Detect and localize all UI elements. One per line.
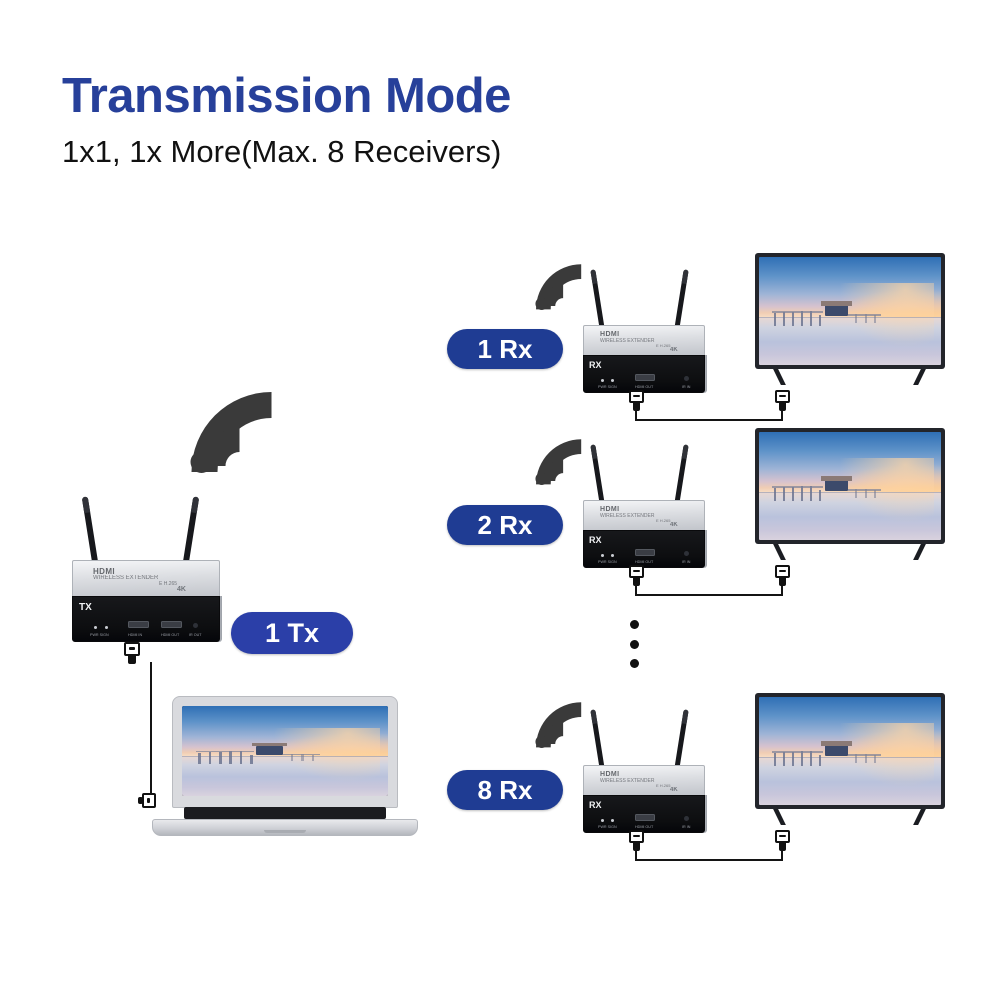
- device-role-label: RX: [589, 360, 602, 370]
- antenna-right: [674, 444, 689, 506]
- tv-stand-right: [913, 544, 926, 560]
- tv-screen: [759, 257, 941, 365]
- signal-led: [611, 379, 614, 382]
- badge-rx-2-label: 2 Rx: [478, 510, 533, 541]
- page-title: Transmission Mode: [62, 72, 511, 121]
- tv-bezel: [755, 253, 945, 369]
- hdmi-in-port: [128, 621, 149, 628]
- tv-bezel: [755, 428, 945, 544]
- wifi-icon: [533, 262, 591, 310]
- device-front-panel: RX PWR SIGN HDMI OUT IR IN: [583, 355, 705, 393]
- tv-stand-left: [773, 544, 786, 560]
- tv-display-1: [755, 253, 945, 369]
- page-subtitle: 1x1, 1x More(Max. 8 Receivers): [62, 136, 501, 167]
- laptop-screen: [182, 706, 388, 796]
- laptop-source: [152, 696, 418, 836]
- badge-rx-1-label: 1 Rx: [478, 334, 533, 365]
- power-led: [94, 626, 97, 629]
- laptop-lid: [172, 696, 398, 808]
- resolution-mark: 4K: [670, 347, 678, 353]
- device-brand-sub: WIRELESS EXTENDER: [93, 575, 158, 581]
- tv-stand-left: [773, 369, 786, 385]
- ir-out-port: [193, 623, 198, 628]
- ir-in-label: IR IN: [682, 824, 690, 829]
- screen-image-pier: [759, 257, 941, 365]
- receiver-device-8: HDMI WIRELESS EXTENDER E H.265 4K RX PWR…: [583, 765, 705, 833]
- led-labels: PWR SIGN: [598, 559, 617, 564]
- hdmi-connector-tv-1: [775, 390, 790, 411]
- diagram-canvas: Transmission Mode 1x1, 1x More(Max. 8 Re…: [0, 0, 1000, 1000]
- tv-display-8: [755, 693, 945, 809]
- badge-rx-1: 1 Rx: [447, 329, 563, 369]
- device-role-label: TX: [79, 602, 92, 613]
- device-top-panel: HDMI WIRELESS EXTENDER E H.265 4K: [72, 560, 220, 598]
- device-codec: E H.265: [656, 783, 670, 788]
- device-top-panel: HDMI WIRELESS EXTENDER E H.265 4K: [583, 325, 705, 356]
- hdmi-connector-tv-8: [775, 830, 790, 851]
- vertical-ellipsis-icon: [630, 620, 639, 668]
- hdmi-out-port: [161, 621, 182, 628]
- antenna-right: [674, 709, 689, 771]
- hdmi-out-label: HDMI OUT: [635, 384, 653, 389]
- antenna-right: [674, 269, 689, 331]
- device-codec: E H.265: [656, 343, 670, 348]
- hdmi-cable-rx-tv-2: [635, 583, 783, 596]
- signal-led: [611, 819, 614, 822]
- tv-stand-right: [913, 809, 926, 825]
- tv-stand-left: [773, 809, 786, 825]
- hdmi-out-port: [635, 374, 655, 381]
- badge-rx-2: 2 Rx: [447, 505, 563, 545]
- receiver-device-2: HDMI WIRELESS EXTENDER E H.265 4K RX PWR…: [583, 500, 705, 568]
- tv-display-2: [755, 428, 945, 544]
- hdmi-cable-rx-tv-1: [635, 408, 783, 421]
- hdmi-out-label: HDMI OUT: [635, 559, 653, 564]
- device-brand: HDMI: [600, 506, 620, 513]
- power-led: [601, 819, 604, 822]
- led-labels: PWR SIGN: [90, 632, 109, 637]
- resolution-mark: 4K: [670, 522, 678, 528]
- wifi-icon: [185, 388, 290, 473]
- badge-rx-8: 8 Rx: [447, 770, 563, 810]
- tv-stand-right: [913, 369, 926, 385]
- antenna-left: [590, 709, 605, 771]
- hdmi-connector-tx: [124, 642, 140, 664]
- laptop-keyboard: [184, 807, 386, 820]
- led-labels: PWR SIGN: [598, 824, 617, 829]
- resolution-mark: 4K: [177, 586, 186, 593]
- led-labels: PWR SIGN: [598, 384, 617, 389]
- ir-in-label: IR IN: [682, 559, 690, 564]
- device-brand-sub: WIRELESS EXTENDER: [600, 338, 654, 344]
- hdmi-connector-tv-2: [775, 565, 790, 586]
- device-front-panel: RX PWR SIGN HDMI OUT IR IN: [583, 530, 705, 568]
- power-led: [601, 554, 604, 557]
- tv-screen: [759, 432, 941, 540]
- antenna-left: [82, 496, 99, 568]
- transmitter-device: HDMI WIRELESS EXTENDER E H.265 4K TX PWR…: [72, 560, 220, 642]
- device-front-panel: RX PWR SIGN HDMI OUT IR IN: [583, 795, 705, 833]
- hdmi-out-label: HDMI OUT: [635, 824, 653, 829]
- hdmi-out-port: [635, 814, 655, 821]
- ir-in-port: [684, 551, 689, 556]
- badge-rx-8-label: 8 Rx: [478, 775, 533, 806]
- ir-out-label: IR OUT: [189, 632, 201, 637]
- device-top-panel: HDMI WIRELESS EXTENDER E H.265 4K: [583, 765, 705, 796]
- wifi-icon: [533, 437, 591, 485]
- antenna-right: [182, 496, 199, 568]
- wifi-icon: [533, 700, 591, 748]
- ir-in-port: [684, 376, 689, 381]
- screen-image-pier: [759, 432, 941, 540]
- receiver-device-1: HDMI WIRELESS EXTENDER E H.265 4K RX PWR…: [583, 325, 705, 393]
- device-top-panel: HDMI WIRELESS EXTENDER E H.265 4K: [583, 500, 705, 531]
- tv-bezel: [755, 693, 945, 809]
- device-brand: HDMI: [600, 331, 620, 338]
- signal-led: [611, 554, 614, 557]
- device-brand: HDMI: [600, 771, 620, 778]
- device-codec: E H.265: [159, 581, 177, 587]
- hdmi-in-label: HDMI IN: [128, 632, 142, 637]
- ir-in-port: [684, 816, 689, 821]
- screen-image-pier: [759, 697, 941, 805]
- device-role-label: RX: [589, 535, 602, 545]
- hdmi-out-port: [635, 549, 655, 556]
- badge-tx-label: 1 Tx: [265, 618, 319, 649]
- device-brand-sub: WIRELESS EXTENDER: [600, 513, 654, 519]
- resolution-mark: 4K: [670, 787, 678, 793]
- hdmi-cable-rx-tv-8: [635, 848, 783, 861]
- device-codec: E H.265: [656, 518, 670, 523]
- power-led: [601, 379, 604, 382]
- hdmi-out-label: HDMI OUT: [161, 632, 179, 637]
- tv-screen: [759, 697, 941, 805]
- laptop-base: [152, 819, 418, 836]
- antenna-left: [590, 269, 605, 331]
- device-front-panel: TX PWR SIGN HDMI IN HDMI OUT IR OUT: [72, 596, 220, 642]
- screen-image-pier: [182, 706, 388, 796]
- badge-tx: 1 Tx: [231, 612, 353, 654]
- device-brand-sub: WIRELESS EXTENDER: [600, 778, 654, 784]
- signal-led: [105, 626, 108, 629]
- device-role-label: RX: [589, 800, 602, 810]
- ir-in-label: IR IN: [682, 384, 690, 389]
- antenna-left: [590, 444, 605, 506]
